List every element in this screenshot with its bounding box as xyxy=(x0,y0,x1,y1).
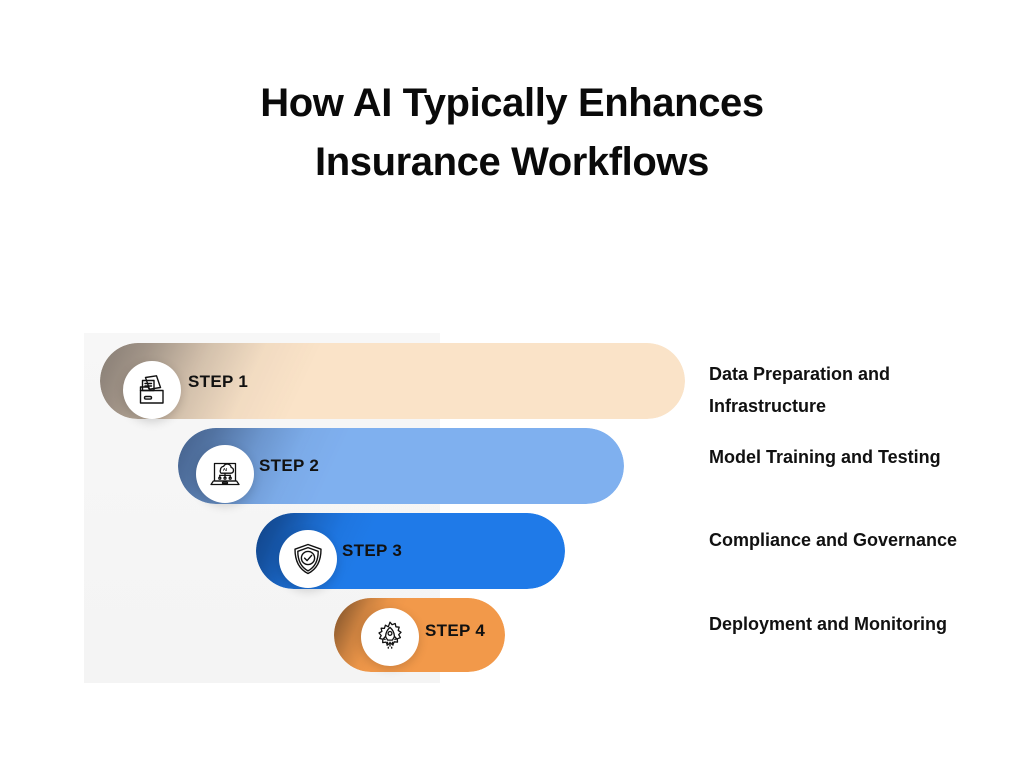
shield-check-icon xyxy=(291,542,325,576)
step-icon-circle-2[interactable]: AI xyxy=(196,445,254,503)
rocket-gear-icon xyxy=(373,620,407,654)
step-icon-circle-1[interactable] xyxy=(123,361,181,419)
documents-folder-icon xyxy=(135,373,169,407)
step-label-2: STEP 2 xyxy=(259,456,319,476)
step-label-3: STEP 3 xyxy=(342,541,402,561)
step-description-4: Deployment and Monitoring xyxy=(709,608,989,640)
svg-text:AI: AI xyxy=(223,467,228,472)
step-icon-circle-3[interactable] xyxy=(279,530,337,588)
step-description-2: Model Training and Testing xyxy=(709,441,989,473)
step-icon-circle-4[interactable] xyxy=(361,608,419,666)
laptop-ai-cloud-icon: AI xyxy=(208,457,242,491)
step-description-1: Data Preparation and Infrastructure xyxy=(709,358,989,422)
step-label-4: STEP 4 xyxy=(425,621,485,641)
step-description-3: Compliance and Governance xyxy=(709,524,989,556)
step-label-1: STEP 1 xyxy=(188,372,248,392)
infographic-canvas: How AI Typically Enhances Insurance Work… xyxy=(0,0,1024,768)
